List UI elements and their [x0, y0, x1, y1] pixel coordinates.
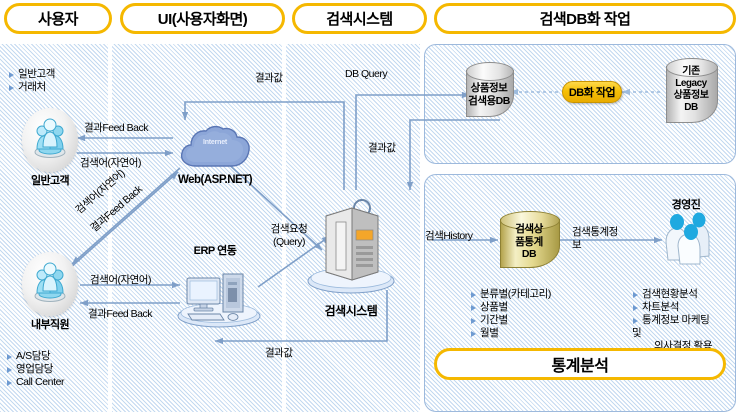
executives-icon	[660, 212, 718, 270]
list-item: Call Center	[6, 376, 64, 389]
stats-bullets: 분류별(카테고리) 상품별 기간별 월별	[470, 288, 551, 340]
people-group-icon	[29, 116, 71, 160]
tab-search-system[interactable]: 검색시스템	[292, 3, 427, 34]
search-system-label: 검색시스템	[303, 302, 399, 319]
tab-user[interactable]: 사용자	[4, 3, 112, 34]
list-item: 일반고객	[8, 68, 55, 81]
label-search-stats-info: 검색통계정 보	[572, 226, 630, 252]
executives-label: 경영진	[646, 196, 726, 212]
db-line-1: 검색상	[515, 223, 542, 235]
label-keyword-natural-top: 검색어(자연어)	[80, 155, 141, 170]
label-result-value-erp: 결과값	[265, 345, 292, 360]
label-line-1: 검색요청	[271, 223, 308, 235]
list-item: 기간별	[470, 314, 551, 327]
cloud-inner-label: Internet	[176, 139, 254, 146]
db-line-4: DB	[684, 102, 697, 113]
db-line-1: 상품정보	[471, 82, 508, 94]
general-customer-avatar	[22, 108, 78, 172]
general-customer-label: 일반고객	[0, 172, 105, 188]
list-item: 통계정보 마케팅	[632, 314, 712, 327]
db-line-3: DB	[522, 248, 536, 260]
label-result-value-ui: 결과값	[255, 70, 282, 85]
header-tabs-bar: 사용자 UI(사용자화면) 검색시스템 검색DB화 작업	[0, 0, 740, 40]
stats-db-label: 검색상 품통계 DB	[500, 223, 558, 261]
list-item: 상품별	[470, 301, 551, 314]
label-line-2: (Query)	[273, 236, 305, 248]
db-line-2: 품통계	[515, 236, 542, 248]
statistical-analysis-button[interactable]: 통계분석	[434, 348, 726, 380]
list-item: 분류별(카테고리)	[470, 288, 551, 301]
list-item: 거래처	[8, 81, 55, 94]
list-item: 및	[622, 327, 712, 340]
internal-staff-avatar	[22, 252, 78, 316]
db-line-1: 기존	[682, 66, 699, 77]
label-result-feedback-bottom: 결과Feed Back	[88, 306, 152, 321]
list-item: 차트분석	[632, 301, 712, 314]
tab-ui[interactable]: UI(사용자화면)	[120, 3, 285, 34]
label-search-request: 검색요청 (Query)	[258, 223, 320, 249]
list-item: 월별	[470, 327, 551, 340]
pane-ui-column	[112, 44, 282, 412]
db-line-2: 검색용DB	[468, 95, 510, 107]
executives-bullets: 검색현황분석 차트분석 통계정보 마케팅 및 의사결정 활용	[632, 288, 712, 353]
label-search-history: 검색History	[425, 228, 473, 243]
erp-label: ERP 연동	[155, 242, 275, 258]
db-line-3: 상품정보	[674, 90, 709, 101]
internet-cloud: Internet	[176, 122, 254, 172]
general-customer-bullets: 일반고객 거래처	[8, 68, 55, 94]
label-db-query: DB Query	[345, 68, 387, 80]
label-result-value-db: 결과값	[368, 140, 395, 155]
people-group-icon	[29, 260, 71, 304]
list-item: 영업담당	[6, 363, 64, 376]
cloud-icon	[176, 122, 254, 172]
db-line-2: Legacy	[675, 78, 706, 89]
desktop-computer-icon	[176, 262, 262, 328]
label-keyword-natural-bottom: 검색어(자연어)	[90, 272, 151, 287]
web-label: Web(ASP.NET)	[150, 174, 280, 186]
internal-staff-bullets: A/S담당 영업담당 Call Center	[6, 350, 64, 389]
dbization-task-button[interactable]: DB화 작업	[562, 81, 622, 103]
label-result-feedback-top: 결과Feed Back	[84, 120, 148, 135]
list-item: A/S담당	[6, 350, 64, 363]
tab-search-db-work[interactable]: 검색DB화 작업	[434, 3, 736, 34]
label-line-2: 보	[572, 239, 581, 251]
label-line-1: 검색통계정	[572, 226, 618, 238]
product-search-db-label: 상품정보 검색용DB	[451, 82, 527, 107]
legacy-db-label: 기존 Legacy 상품정보 DB	[660, 66, 722, 114]
list-item: 검색현황분석	[632, 288, 712, 301]
